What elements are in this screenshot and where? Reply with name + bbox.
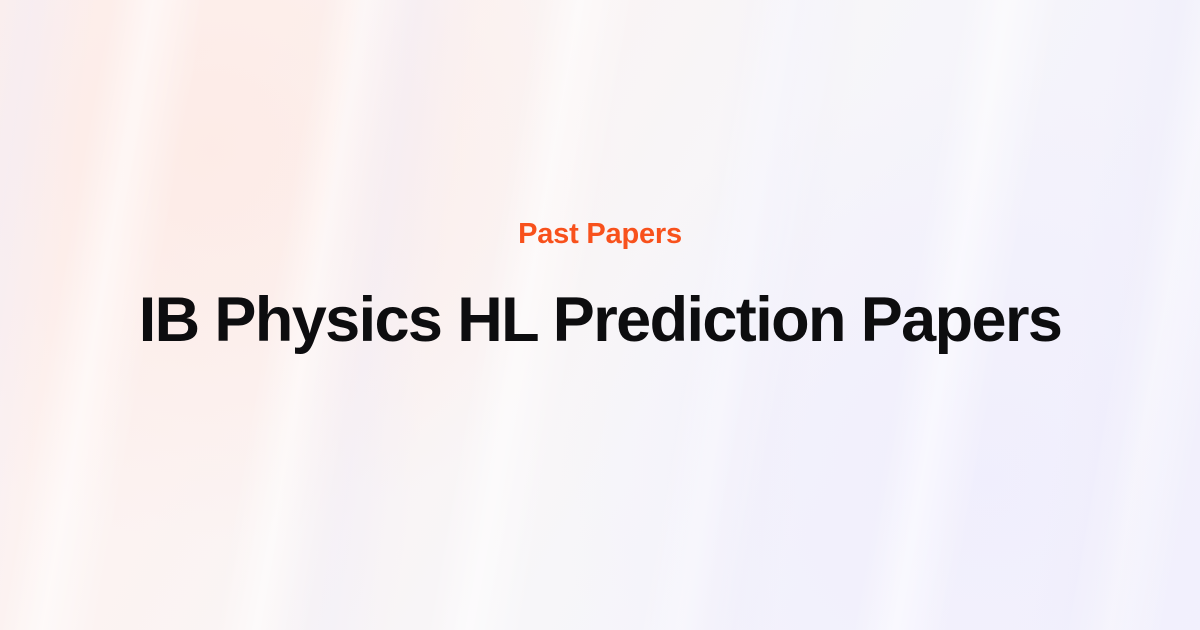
og-card: Past Papers IB Physics HL Prediction Pap…	[0, 0, 1200, 630]
card-content: Past Papers IB Physics HL Prediction Pap…	[0, 0, 1200, 630]
category-eyebrow: Past Papers	[518, 220, 682, 249]
page-title: IB Physics HL Prediction Papers	[139, 287, 1062, 354]
